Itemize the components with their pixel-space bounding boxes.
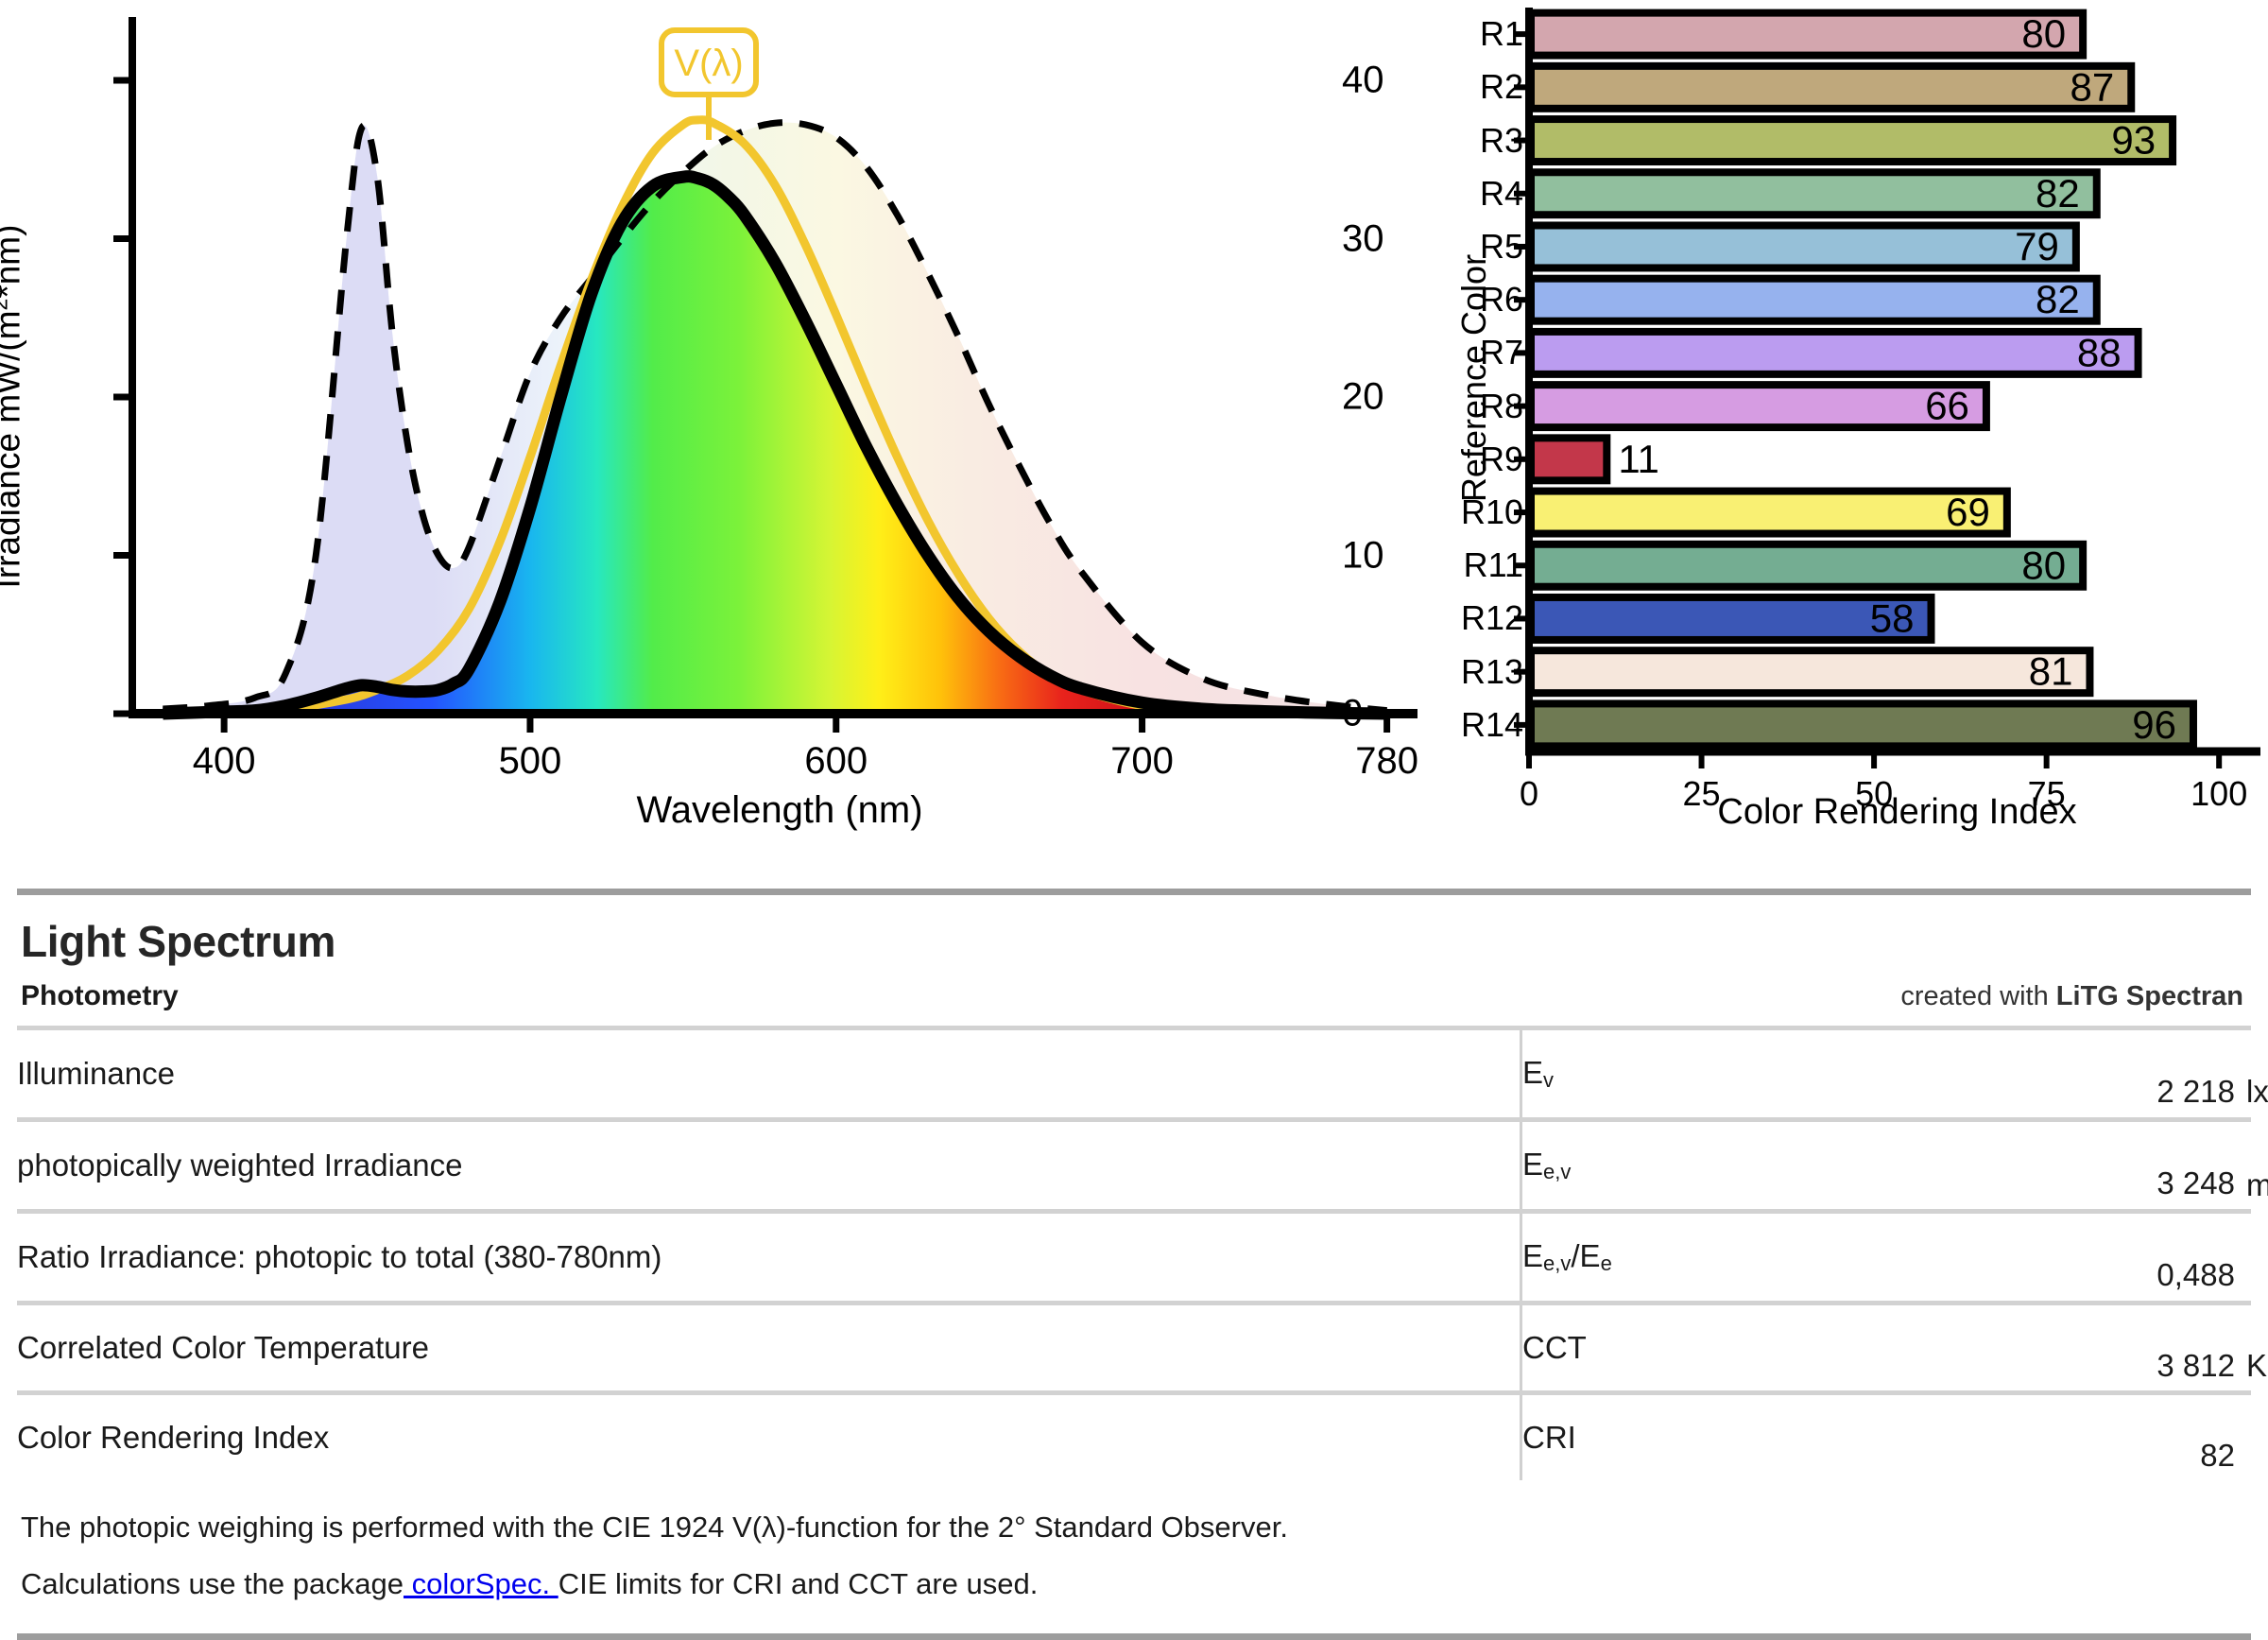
light-spectrum-report: Irradiance mW/(m2*nm) (0, 0, 2268, 1595)
table-row: IlluminanceEv2 218lx (17, 1028, 2251, 1120)
spectrum-plot-svg: V(λ) (0, 0, 1446, 789)
cri-bar-value: 82 (2036, 171, 2080, 216)
cri-bar (1531, 225, 2076, 268)
metric-value-cell: 2 218lx (1815, 1028, 2251, 1120)
metric-value: 2 218 (2156, 1074, 2235, 1110)
report-block: Light Spectrum Photometry created with L… (0, 889, 2268, 1640)
cri-bar-value: 88 (2077, 330, 2122, 374)
cri-row-label: R12 (1446, 598, 1523, 638)
cri-bar-value: 80 (2021, 11, 2066, 56)
cri-bar (1531, 119, 2173, 162)
metric-symbol: Ev (1521, 1028, 1816, 1120)
spectrum-chart: Irradiance mW/(m2*nm) (0, 0, 1446, 855)
metric-value-cell: 0,488 (1815, 1212, 2251, 1303)
spectrum-y-tick: 10 (1342, 534, 1446, 577)
cri-bar-value: 58 (1870, 596, 1915, 640)
metric-symbol: CCT (1521, 1303, 1816, 1393)
cri-bar-value: 79 (2015, 224, 2059, 268)
spectrum-y-tick: 40 (1342, 60, 1446, 102)
metric-value-cell: 3 812K (1815, 1303, 2251, 1393)
metric-unit: K (2246, 1348, 2267, 1384)
cri-row-label: R1 (1446, 14, 1523, 54)
cri-bar-value: 82 (2036, 277, 2080, 321)
metric-value: 3 248 (2156, 1165, 2235, 1201)
metric-symbol: CRI (1521, 1393, 1816, 1481)
metric-value-cell: 82 (1815, 1393, 2251, 1481)
v-lambda-badge-label: V(λ) (674, 43, 743, 84)
metric-name: Ratio Irradiance: photopic to total (380… (17, 1212, 1521, 1303)
cri-bar-value: 69 (1946, 490, 1990, 534)
cri-bar (1531, 172, 2097, 215)
spectrum-y-tick: 30 (1342, 217, 1446, 260)
cri-bar (1531, 544, 2083, 587)
note-calculations-suffix: CIE limits for CRI and CCT are used. (558, 1567, 1039, 1600)
cri-row-label: R4 (1446, 174, 1523, 214)
table-row: photopically weighted IrradianceEe,v3 24… (17, 1120, 2251, 1212)
note-calculations-prefix: Calculations use the package (21, 1567, 404, 1600)
cri-bar (1531, 279, 2097, 321)
metric-value: 0,488 (2156, 1257, 2235, 1293)
cri-bar-value: 11 (1618, 437, 1659, 481)
cri-x-axis-label: Color Rendering Index (1446, 792, 2268, 833)
metric-name: photopically weighted Irradiance (17, 1120, 1521, 1212)
report-credit: created with LiTG Spectran (1900, 981, 2243, 1012)
cri-bar-value: 66 (1925, 384, 1969, 428)
cri-bar (1531, 385, 1986, 427)
spectrum-x-tick: 780 (1355, 740, 1418, 783)
charts-row: Irradiance mW/(m2*nm) (0, 0, 2268, 855)
cri-bar (1531, 66, 2131, 109)
metric-name: Illuminance (17, 1028, 1521, 1120)
cri-plot-svg: 8087938279828866116980588196 (1446, 0, 2268, 789)
photometry-table: IlluminanceEv2 218lxphotopically weighte… (17, 1026, 2251, 1480)
report-subhead: Photometry (21, 980, 179, 1012)
spectrum-y-tick: 20 (1342, 376, 1446, 419)
cri-bar-value: 93 (2111, 118, 2156, 163)
spectrum-x-tick: 500 (499, 740, 562, 783)
metric-value-cell: 3 248mW/m2 (1815, 1120, 2251, 1212)
note-calculations: Calculations use the package colorSpec. … (21, 1560, 2247, 1616)
spectrum-x-axis-label: Wavelength (nm) (0, 789, 1446, 832)
cri-bar-value: 81 (2029, 649, 2073, 694)
metric-name: Color Rendering Index (17, 1393, 1521, 1481)
metric-value: 3 812 (2156, 1348, 2235, 1384)
cri-bar (1531, 438, 1606, 480)
cri-row-label: R3 (1446, 121, 1523, 161)
cri-row-label: R11 (1446, 545, 1523, 585)
cri-row-label: R14 (1446, 705, 1523, 745)
report-bottom-rule (17, 1633, 2251, 1640)
cri-bar (1531, 332, 2139, 374)
metric-unit: lx (2246, 1074, 2268, 1110)
cri-row-label: R13 (1446, 652, 1523, 692)
cri-chart: 8087938279828866116980588196 R1R2R3R4R5R… (1446, 0, 2268, 855)
metric-unit: mW/m2 (2246, 1165, 2268, 1203)
cri-bar (1531, 492, 2007, 534)
credit-brand: LiTG Spectran (2056, 981, 2243, 1011)
note-photopic-weighing: The photopic weighing is performed with … (21, 1503, 2247, 1560)
cri-bar (1531, 650, 2089, 693)
metric-symbol: Ee,v/Ee (1521, 1212, 1816, 1303)
table-row: Color Rendering IndexCRI82 (17, 1393, 2251, 1481)
metric-symbol: Ee,v (1521, 1120, 1816, 1212)
metric-value: 82 (2200, 1438, 2235, 1474)
spectrum-x-tick: 400 (193, 740, 256, 783)
cri-bar-value: 87 (2070, 64, 2115, 109)
report-top-rule (17, 889, 2251, 895)
v-lambda-callout: V(λ) (661, 30, 756, 140)
report-notes: The photopic weighing is performed with … (0, 1480, 2268, 1616)
credit-prefix: created with (1900, 981, 2055, 1011)
cri-bar-value: 80 (2021, 543, 2066, 587)
spectrum-x-tick: 600 (804, 740, 868, 783)
cri-bar-value: 96 (2132, 702, 2176, 747)
cri-bar (1531, 13, 2083, 56)
metric-name: Correlated Color Temperature (17, 1303, 1521, 1393)
table-row: Correlated Color TemperatureCCT3 812K (17, 1303, 2251, 1393)
cri-y-axis-label: Reference Color (1454, 254, 1494, 502)
colorspec-link[interactable]: colorSpec. (404, 1567, 558, 1600)
report-subhead-row: Photometry created with LiTG Spectran (0, 967, 2268, 1026)
spectrum-y-tick: 0 (1342, 693, 1446, 735)
spectrum-x-tick: 700 (1110, 740, 1174, 783)
cri-row-label: R2 (1446, 67, 1523, 107)
cri-bar (1531, 703, 2193, 746)
page-title: Light Spectrum (0, 895, 2268, 967)
table-row: Ratio Irradiance: photopic to total (380… (17, 1212, 2251, 1303)
